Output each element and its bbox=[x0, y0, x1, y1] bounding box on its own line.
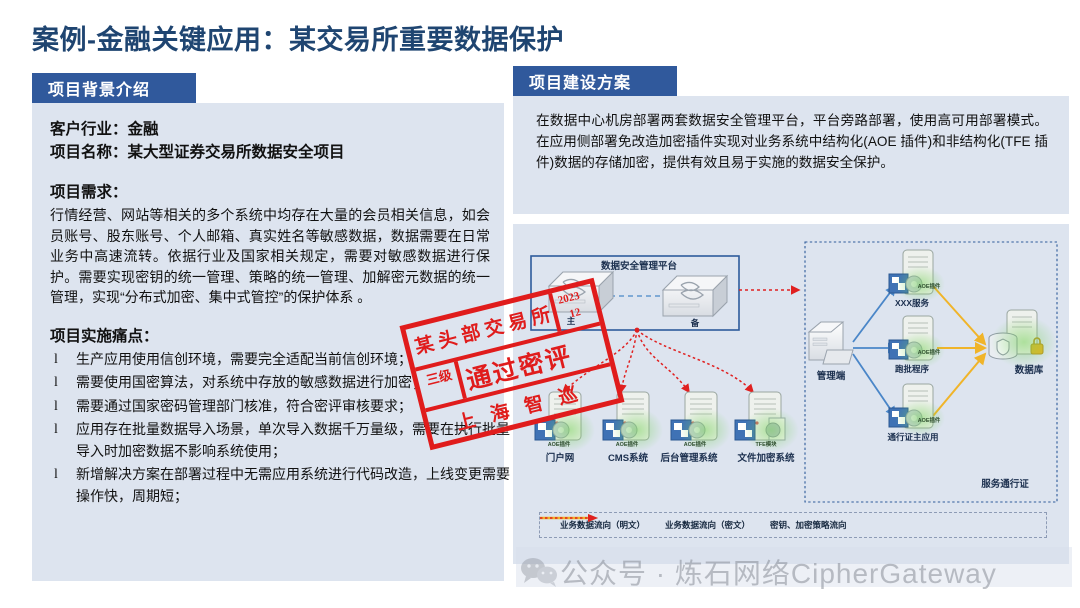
node-label-file-encryption: 文件加密系统 bbox=[725, 454, 807, 464]
node-label-portal: 门户网 bbox=[525, 454, 595, 464]
watermark-text: 公众号 · 炼石网络CipherGateway bbox=[560, 552, 997, 592]
legend-label-cipher: 业务数据流向（密文） bbox=[665, 519, 750, 531]
page-title: 案例-金融关键应用：某交易所重要数据保护 bbox=[32, 18, 564, 57]
plan-description-text: 在数据中心机房部署两套数据安全管理平台，平台旁路部署，使用高可用部署模式。在应用… bbox=[536, 110, 1048, 173]
list-item: l新增解决方案在部署过程中无需应用系统进行代码改造，上线变更需要操作快，周期短； bbox=[50, 464, 514, 507]
list-item: l应用存在批量数据导入场景，单次导入数据千万量级，需要在执行批量导入时加密数据不… bbox=[50, 419, 514, 462]
painpoint-list: l生产应用使用信创环境，需要完全适配当前信创环境； l需要使用国密算法，对系统中… bbox=[50, 349, 494, 508]
plugin-badge-label: AOE插件 bbox=[529, 440, 589, 448]
node-label-xxx-service: XXX服务 bbox=[879, 298, 945, 308]
section-tab-label-plan: 项目建设方案 bbox=[529, 69, 631, 93]
node-label-database: 数据库 bbox=[999, 366, 1059, 376]
list-item-text: 应用存在批量数据导入场景，单次导入数据千万量级，需要在执行批量导入时加密数据不影… bbox=[76, 421, 510, 459]
plugin-badge-label: TFE模块 bbox=[733, 440, 799, 448]
wechat-icon bbox=[520, 556, 560, 588]
legend-item-cipher: 业务数据流向（密文） bbox=[659, 519, 750, 531]
platform-primary-label: 主 bbox=[561, 316, 581, 326]
plugin-badge-label: AOE插件 bbox=[597, 440, 657, 448]
list-item-text: 生产应用使用信创环境，需要完全适配当前信创环境； bbox=[76, 351, 412, 367]
plugin-badge-label: AOE插件 bbox=[899, 348, 959, 356]
plugin-badge-label: AOE插件 bbox=[899, 282, 959, 290]
list-item-text: 新增解决方案在部署过程中无需应用系统进行代码改造，上线变更需要操作快，周期短； bbox=[76, 466, 510, 504]
legend-item-key: 密钥、加密策略流向 bbox=[764, 519, 847, 531]
project-name: 项目名称：某大型证券交易所数据安全项目 bbox=[50, 141, 494, 164]
section-tab-label-background: 项目背景介绍 bbox=[48, 76, 150, 100]
bullet-icon: l bbox=[54, 372, 58, 394]
list-item: l需要通过国家密码管理部门核准，符合密评审核要求； bbox=[50, 396, 514, 418]
node-label-passport-app: 通行证主应用 bbox=[871, 432, 955, 442]
bullet-icon: l bbox=[54, 349, 58, 371]
platform-standby-label: 备 bbox=[685, 318, 705, 328]
list-item-text: 需要使用国密算法，对系统中存放的敏感数据进行加密； bbox=[76, 374, 426, 390]
watermark: 公众号 · 炼石网络CipherGateway bbox=[520, 552, 997, 592]
plugin-badge-label: AOE插件 bbox=[665, 440, 725, 448]
architecture-diagram: 数据安全管理平台 主 备 AOE插件 AOE插件 AOE插件 TFE模块 门户网… bbox=[513, 224, 1069, 564]
node-label-admin: 管理端 bbox=[801, 372, 861, 382]
list-item-text: 需要通过国家密码管理部门核准，符合密评审核要求； bbox=[76, 398, 412, 414]
legend-label-key: 密钥、加密策略流向 bbox=[770, 519, 847, 531]
bullet-icon: l bbox=[54, 396, 58, 418]
customer-industry: 客户行业：金融 bbox=[50, 118, 494, 141]
section-tab-plan: 项目建设方案 bbox=[513, 66, 677, 96]
node-label-cms: CMS系统 bbox=[593, 454, 663, 464]
left-panel-content: 客户行业：金融 项目名称：某大型证券交易所数据安全项目 项目需求： 行情经营、网… bbox=[50, 118, 494, 509]
bullet-icon: l bbox=[54, 419, 58, 441]
zone-label-service-passport: 服务通行证 bbox=[965, 480, 1045, 490]
list-item: l需要使用国密算法，对系统中存放的敏感数据进行加密； bbox=[50, 372, 514, 394]
diagram-legend: 业务数据流向（明文） 业务数据流向（密文） 密钥、加密策略流向 bbox=[539, 512, 1047, 538]
requirement-heading: 项目需求： bbox=[50, 180, 494, 202]
bullet-icon: l bbox=[54, 464, 58, 486]
requirement-text: 行情经营、网站等相关的多个系统中均存在大量的会员相关信息，如会员账号、股东账号、… bbox=[50, 205, 490, 308]
section-tab-background: 项目背景介绍 bbox=[32, 73, 196, 103]
legend-arrow-red-icon bbox=[540, 513, 600, 523]
painpoint-heading: 项目实施痛点： bbox=[50, 324, 494, 346]
encryption-glow bbox=[991, 316, 1057, 368]
list-item: l生产应用使用信创环境，需要完全适配当前信创环境； bbox=[50, 349, 514, 371]
platform-title: 数据安全管理平台 bbox=[585, 262, 693, 272]
node-label-backoffice: 后台管理系统 bbox=[659, 454, 719, 464]
node-label-batch: 跑批程序 bbox=[879, 364, 945, 374]
plugin-badge-label: AOE插件 bbox=[899, 416, 959, 424]
